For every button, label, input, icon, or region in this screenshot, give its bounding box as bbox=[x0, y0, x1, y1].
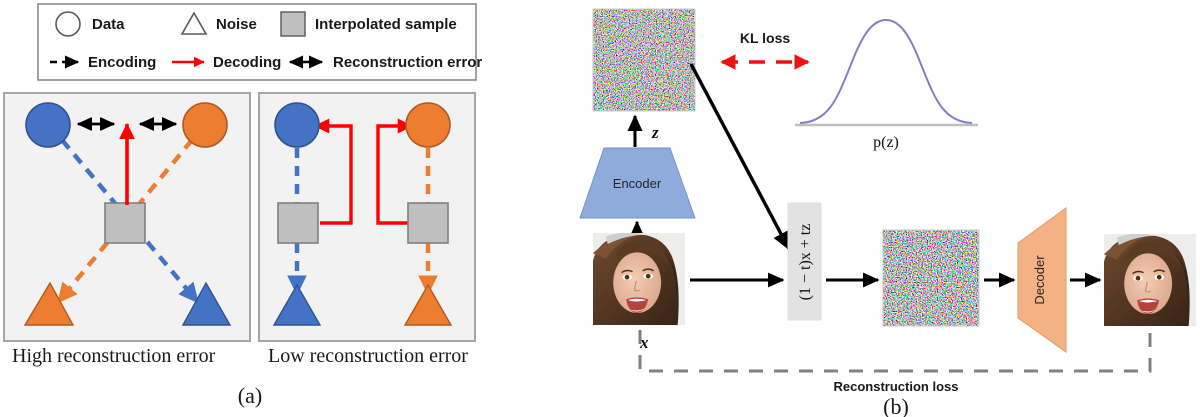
reconstruction-loss-bracket: Reconstruction loss bbox=[640, 330, 1150, 394]
interpolation-label: (1 − t)x + tz bbox=[797, 224, 814, 301]
panel-a: Data Noise Interpolated sample Encoding … bbox=[0, 0, 500, 417]
data-circle-blue-right bbox=[275, 103, 319, 147]
legend-label-encoding: Encoding bbox=[88, 54, 156, 71]
legend-circle-icon bbox=[56, 12, 80, 36]
data-circle-orange-right bbox=[406, 103, 450, 147]
panel-a-caption: (a) bbox=[238, 383, 262, 408]
interpolated-sample-square-orange bbox=[408, 203, 448, 243]
arrow-z-to-interp bbox=[691, 64, 789, 249]
legend-label-noise: Noise bbox=[216, 16, 257, 33]
legend-label-data: Data bbox=[92, 16, 125, 33]
kl-loss-label: KL loss bbox=[740, 30, 791, 46]
legend-label-interpolated: Interpolated sample bbox=[315, 16, 457, 33]
data-circle-orange bbox=[183, 103, 227, 147]
kl-loss-group: KL loss bbox=[722, 30, 808, 62]
legend: Data Noise Interpolated sample Encoding … bbox=[38, 4, 482, 80]
legend-label-reconstruction: Reconstruction error bbox=[333, 54, 482, 71]
decoder-label: Decoder bbox=[1032, 255, 1047, 305]
panel-a-right-caption: Low reconstruction error bbox=[268, 345, 468, 367]
interpolated-sample-square-blue bbox=[278, 203, 318, 243]
latent-variable-label: z bbox=[651, 123, 659, 142]
panel-a-left: High reconstruction error bbox=[4, 93, 250, 367]
encoder-label: Encoder bbox=[613, 176, 662, 191]
interpolated-sample-square bbox=[105, 203, 145, 243]
prior-label: p(z) bbox=[873, 134, 899, 151]
interpolation-block: (1 − t)x + tz bbox=[788, 203, 821, 320]
panel-b-caption: (b) bbox=[883, 394, 909, 417]
input-face-image bbox=[593, 232, 685, 325]
data-circle-blue bbox=[26, 103, 70, 147]
decoder-block: Decoder bbox=[1018, 208, 1066, 352]
output-face-image bbox=[1104, 233, 1196, 326]
legend-label-decoding: Decoding bbox=[213, 54, 281, 71]
reconstruction-loss-label: Reconstruction loss bbox=[834, 379, 959, 394]
latent-noise-image bbox=[593, 9, 695, 111]
panel-b: z Encoder x KL loss bbox=[500, 0, 1200, 417]
interpolated-noise-image bbox=[883, 230, 979, 326]
prior-distribution-plot: p(z) bbox=[795, 20, 978, 151]
legend-square-icon bbox=[281, 12, 305, 36]
figure-root: Data Noise Interpolated sample Encoding … bbox=[0, 0, 1200, 417]
encoder-block: Encoder bbox=[580, 148, 695, 218]
panel-a-left-caption: High reconstruction error bbox=[12, 345, 216, 367]
panel-a-right: Low reconstruction error bbox=[259, 93, 475, 367]
